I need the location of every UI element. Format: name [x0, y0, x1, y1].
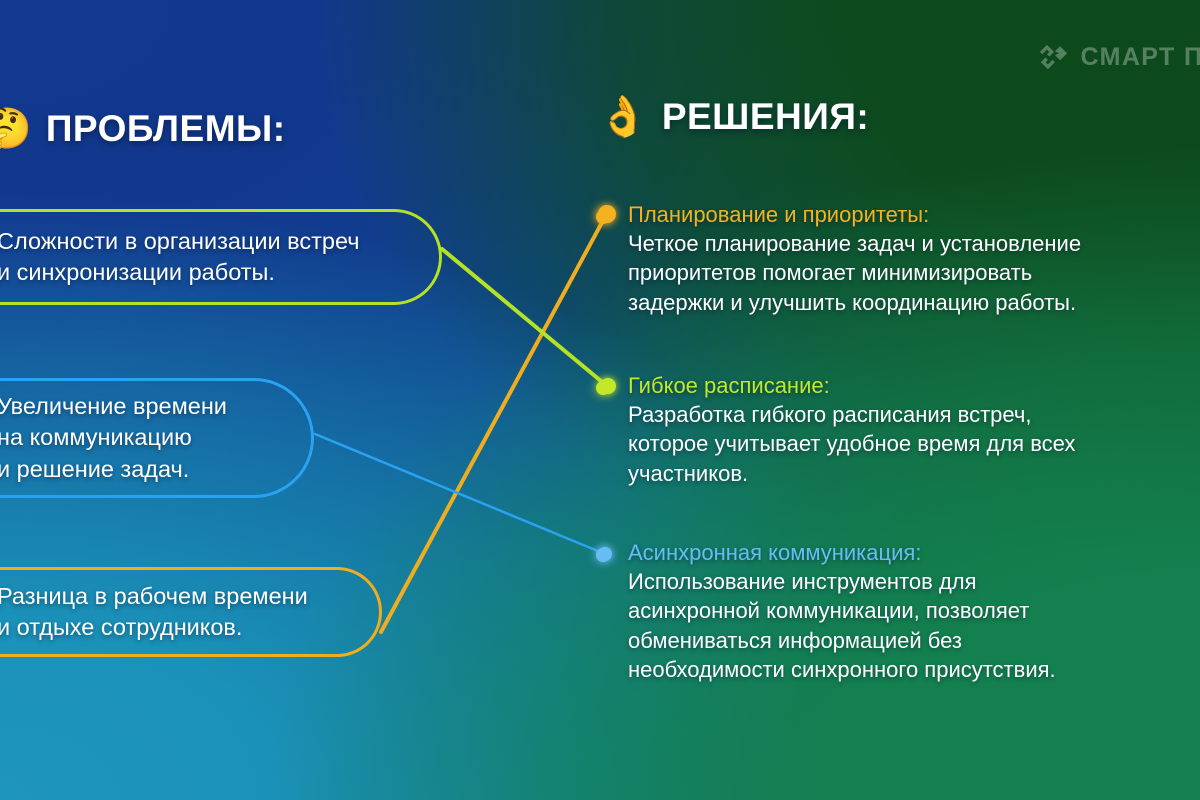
brand-logo-text: СМАРТ ПРО	[1080, 43, 1200, 72]
problem-card-3-text: Разница в рабочем времени и отдыхе сотру…	[0, 581, 308, 644]
solutions-heading-text: РЕШЕНИЯ:	[662, 96, 869, 138]
solution-item-3-body: Использование инструментов для асинхронн…	[628, 567, 1200, 684]
connector-problem-2-to-solution-3	[315, 434, 605, 554]
problem-card-2-text: Увеличение времени на коммуникацию и реш…	[0, 391, 227, 485]
thinking-face-emoji: 🤔	[0, 109, 32, 149]
solution-item-1-body: Четкое планирование задач и установление…	[628, 229, 1200, 317]
solutions-heading: 👌 РЕШЕНИЯ:	[598, 96, 1200, 138]
solution-item-3[interactable]: Асинхронная коммуникация: Использование …	[596, 539, 1200, 684]
solution-bullet-2-icon	[596, 381, 610, 395]
problems-heading-text: ПРОБЛЕМЫ:	[46, 108, 286, 150]
solution-item-2-title: Гибкое расписание:	[628, 372, 1200, 400]
ok-hand-emoji: 👌	[598, 97, 648, 137]
solutions-column: 👌 РЕШЕНИЯ: Планирование и приоритеты: Че…	[596, 96, 1200, 138]
solution-item-3-title: Асинхронная коммуникация:	[628, 539, 1200, 567]
solution-bullet-1-icon	[596, 210, 610, 224]
solution-item-1[interactable]: Планирование и приоритеты: Четкое планир…	[596, 201, 1200, 317]
problem-card-3[interactable]: Разница в рабочем времени и отдыхе сотру…	[0, 567, 382, 657]
solution-bullet-3-icon	[596, 548, 610, 562]
double-chevron-icon	[1039, 42, 1069, 72]
problem-card-1[interactable]: Сложности в организации встреч и синхрон…	[0, 209, 442, 305]
solution-item-2-body: Разработка гибкого расписания встреч, ко…	[628, 400, 1200, 488]
problems-heading: 🤔 ПРОБЛЕМЫ:	[0, 108, 286, 150]
solution-item-2[interactable]: Гибкое расписание: Разработка гибкого ра…	[596, 372, 1200, 488]
problem-card-1-text: Сложности в организации встреч и синхрон…	[0, 226, 360, 289]
solution-item-1-title: Планирование и приоритеты:	[628, 201, 1200, 229]
brand-logo: СМАРТ ПРО	[1039, 42, 1200, 72]
problem-card-2[interactable]: Увеличение времени на коммуникацию и реш…	[0, 378, 314, 498]
